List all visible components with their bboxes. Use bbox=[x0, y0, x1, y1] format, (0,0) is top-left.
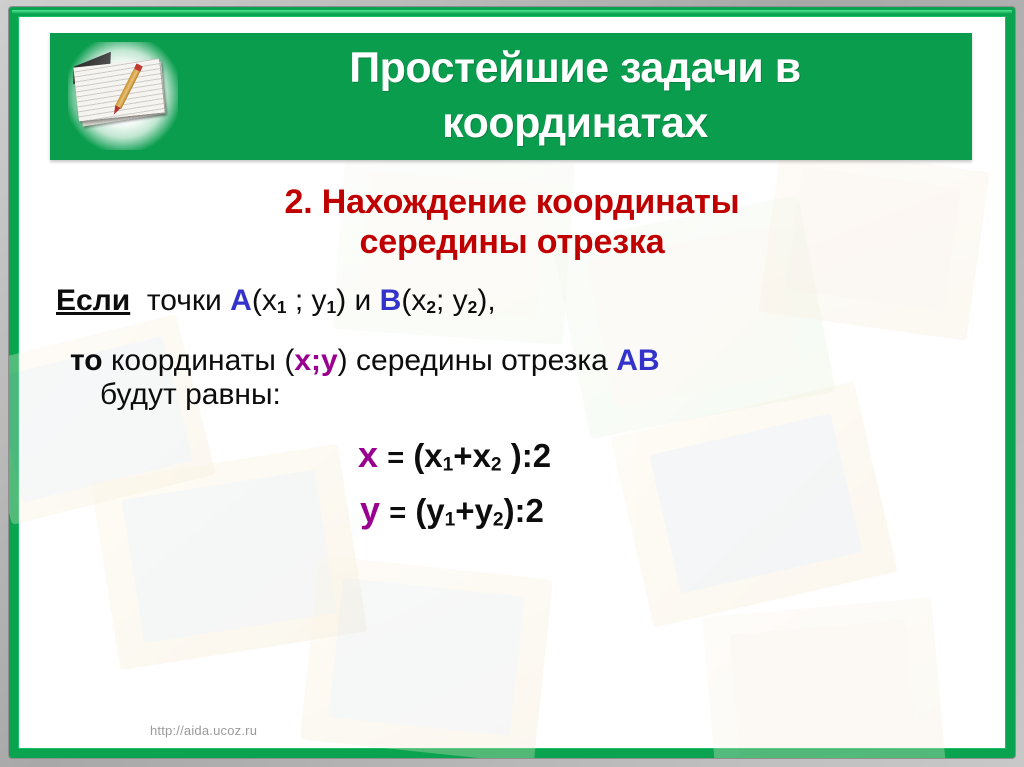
section-subtitle-line2: середины отрезка bbox=[112, 222, 912, 262]
section-subtitle-line1: 2. Нахождение координаты bbox=[112, 182, 912, 222]
formula-x-close: ):2 bbox=[502, 437, 552, 474]
point-a-mid: ; y bbox=[287, 284, 327, 317]
formula-x-open: (x bbox=[413, 437, 442, 474]
watermark-url: http://aida.ucoz.ru bbox=[150, 723, 257, 738]
formula-y-sub1: 1 bbox=[445, 509, 456, 530]
point-b-mid: ; y bbox=[436, 284, 468, 317]
formula-y-close: ):2 bbox=[504, 492, 544, 529]
formula-y-open: (y bbox=[415, 492, 444, 529]
point-a-label: A bbox=[230, 284, 252, 317]
formula-y-lead: y bbox=[360, 489, 380, 530]
segment-ab-label: AB bbox=[616, 344, 659, 377]
page-title-line2: координатах bbox=[190, 96, 960, 151]
formula-x-equals: = bbox=[387, 442, 404, 474]
xy-pair: x;y bbox=[294, 344, 337, 377]
slide-canvas: Простейшие задачи в координатах 2. Нахож… bbox=[0, 0, 1024, 767]
formula-y: y = (y1+y2):2 bbox=[360, 489, 544, 531]
point-a-sub2: 1 bbox=[327, 297, 337, 317]
paper-lined-sheet bbox=[73, 59, 164, 122]
section-subtitle: 2. Нахождение координаты середины отрезк… bbox=[112, 182, 912, 262]
statement-will-equal-line: будут равны: bbox=[100, 377, 281, 413]
notebook-pencil-photo bbox=[62, 38, 184, 154]
formula-x-plus: +x bbox=[453, 437, 491, 474]
formula-x: x = (x1+x2 ):2 bbox=[358, 434, 551, 476]
formula-y-plus: +y bbox=[455, 492, 493, 529]
coordinates-word: координаты bbox=[111, 344, 276, 377]
formula-x-sub2: 2 bbox=[491, 454, 502, 475]
point-a-open: (x bbox=[252, 284, 277, 317]
formula-y-sub2: 2 bbox=[493, 509, 504, 530]
formula-x-sub1: 1 bbox=[443, 454, 454, 475]
statement-then-line: то координаты (x;y) середины отрезка AB bbox=[70, 343, 660, 379]
xy-paren-close: ) bbox=[338, 344, 348, 377]
page-title-line1: Простейшие задачи в bbox=[190, 41, 960, 96]
point-b-sub2: 2 bbox=[468, 297, 478, 317]
point-b-sub1: 2 bbox=[426, 297, 436, 317]
header-banner: Простейшие задачи в координатах bbox=[50, 33, 972, 160]
point-a-sub1: 1 bbox=[277, 297, 287, 317]
formula-x-lead: x bbox=[358, 434, 378, 475]
midpoint-of-segment-text: середины отрезка bbox=[356, 344, 608, 377]
point-b-label: B bbox=[380, 284, 402, 317]
page-title: Простейшие задачи в координатах bbox=[190, 41, 960, 151]
and-conjunction: и bbox=[355, 284, 372, 317]
points-word: точки bbox=[147, 284, 222, 317]
statement-if-line: Если точки A(x1 ; y1) и B(x2; y2), bbox=[56, 283, 496, 325]
point-b-open: (x bbox=[401, 284, 426, 317]
point-b-close: ), bbox=[477, 284, 495, 317]
if-keyword: Если bbox=[56, 284, 130, 317]
formula-y-equals: = bbox=[389, 497, 406, 529]
point-a-close: ) bbox=[336, 284, 346, 317]
xy-paren-open: ( bbox=[284, 344, 294, 377]
then-keyword: то bbox=[70, 344, 103, 377]
